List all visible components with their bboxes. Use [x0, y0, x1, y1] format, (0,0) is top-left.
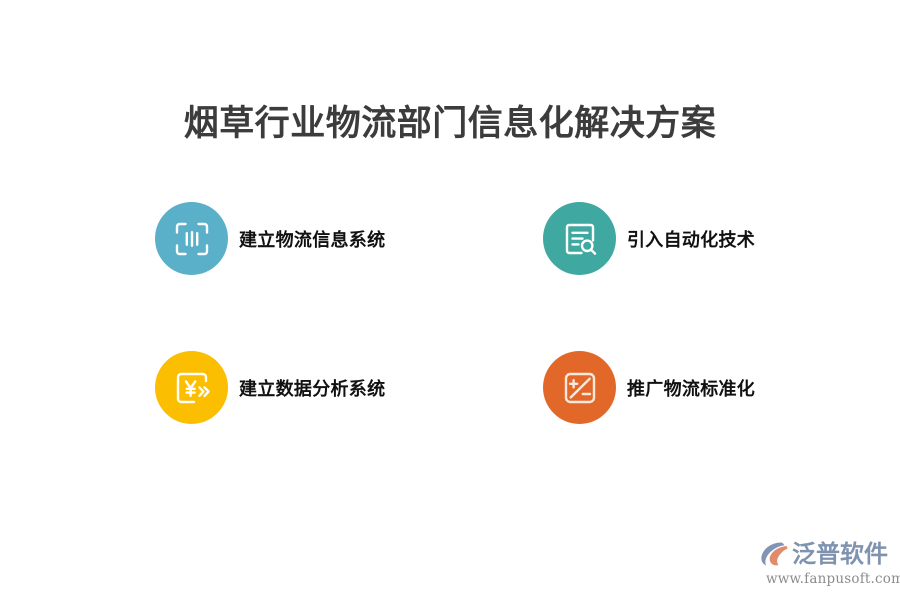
- icon-badge-3: [543, 351, 616, 424]
- solution-item-2[interactable]: 建立数据分析系统: [155, 351, 385, 424]
- solution-item-label-3: 推广物流标准化: [627, 375, 755, 401]
- plus-minus-icon: [560, 368, 600, 408]
- icon-badge-1: [543, 202, 616, 275]
- solution-item-label-1: 引入自动化技术: [627, 226, 755, 252]
- solution-item-label-0: 建立物流信息系统: [239, 226, 385, 252]
- icon-badge-2: [155, 351, 228, 424]
- brand-name: 泛普软件: [792, 540, 888, 568]
- fanpu-swoosh-icon: [760, 540, 790, 568]
- brand-url: www.fanpusoft.com: [766, 571, 892, 587]
- solution-item-1[interactable]: 引入自动化技术: [543, 202, 755, 275]
- icon-badge-0: [155, 202, 228, 275]
- solution-items-grid: 建立物流信息系统 引入自动化技术: [0, 0, 900, 600]
- slide-canvas: 烟草行业物流部门信息化解决方案 建立物流信息系统: [0, 0, 900, 600]
- yen-transfer-icon: [172, 368, 212, 408]
- solution-item-label-2: 建立数据分析系统: [239, 375, 385, 401]
- document-search-icon: [560, 219, 600, 259]
- brand-logo[interactable]: 泛普软件 www.fanpusoft.com: [760, 538, 892, 588]
- scan-barcode-icon: [172, 219, 212, 259]
- solution-item-3[interactable]: 推广物流标准化: [543, 351, 755, 424]
- brand-logo-row: 泛普软件: [760, 538, 892, 570]
- solution-item-0[interactable]: 建立物流信息系统: [155, 202, 385, 275]
